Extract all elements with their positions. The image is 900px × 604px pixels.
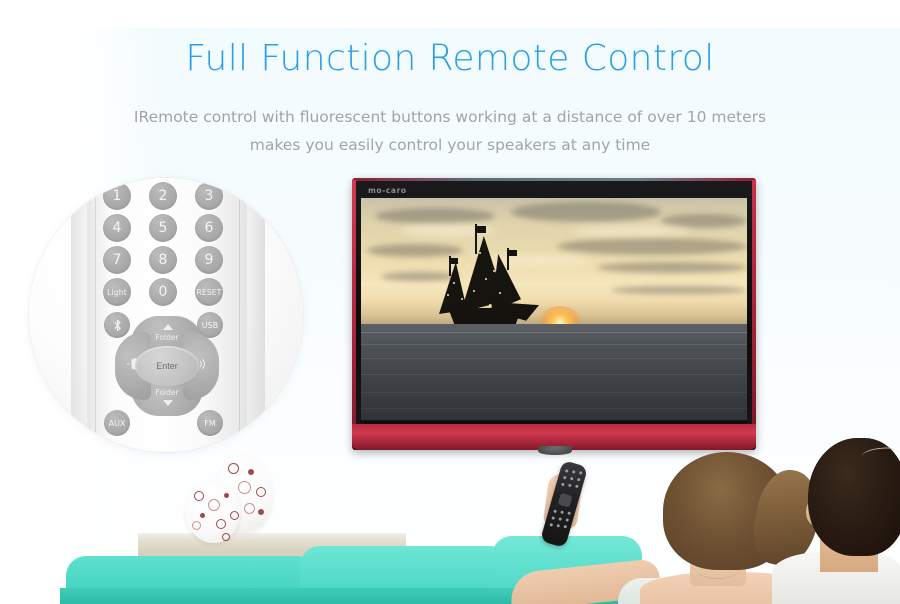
tv-screen [361,198,747,420]
remote-key-3[interactable]: 3 [195,182,223,210]
page-subtitle: IRemote control with fluorescent buttons… [0,103,900,159]
remote-key-7[interactable]: 7 [103,246,131,274]
dpad-down-label: Folder [131,388,203,397]
remote-key-4[interactable]: 4 [103,214,131,242]
aux-button[interactable]: AUX [104,410,130,436]
tv-stand [538,446,572,455]
promo-banner: Full Function Remote Control IRemote con… [0,0,900,604]
remote-magnifier-circle: 1 2 3 4 5 6 7 8 9 Light 0 RESET USB AUX … [29,178,303,452]
remote-key-reset[interactable]: RESET [195,278,223,306]
remote-key-9[interactable]: 9 [195,246,223,274]
arrow-down-icon [163,400,173,406]
television: mo-caro [352,178,756,450]
magnifier-contents: 1 2 3 4 5 6 7 8 9 Light 0 RESET USB AUX … [29,178,303,452]
tv-edge-left [352,180,356,448]
remote-seam-left [95,178,96,452]
decorative-vase [186,455,276,545]
remote-body-shadow-left [71,178,97,452]
tv-brand-logo: mo-caro [368,186,407,195]
remote-key-0[interactable]: 0 [149,278,177,306]
remote-key-8[interactable]: 8 [149,246,177,274]
screen-sea [361,324,747,420]
tv-edge-top [352,178,756,181]
subtitle-line-1: IRemote control with fluorescent buttons… [0,103,900,131]
directional-pad: Folder Folder Enter [121,320,213,412]
remote-key-5[interactable]: 5 [149,214,177,242]
remote-key-light[interactable]: Light [103,278,131,306]
page-title: Full Function Remote Control [0,38,900,79]
fm-button[interactable]: FM [197,410,223,436]
remote-key-1[interactable]: 1 [103,182,131,210]
remote-seam-right [239,178,240,452]
dpad-up-label: Folder [131,333,203,342]
arrow-up-icon [163,324,173,330]
enter-button[interactable]: Enter [135,346,199,386]
remote-body-shadow-right [237,178,265,452]
tv-edge-right [752,180,756,448]
remote-key-2[interactable]: 2 [149,182,177,210]
remote-key-6[interactable]: 6 [195,214,223,242]
subtitle-line-2: makes you easily control your speakers a… [0,131,900,159]
